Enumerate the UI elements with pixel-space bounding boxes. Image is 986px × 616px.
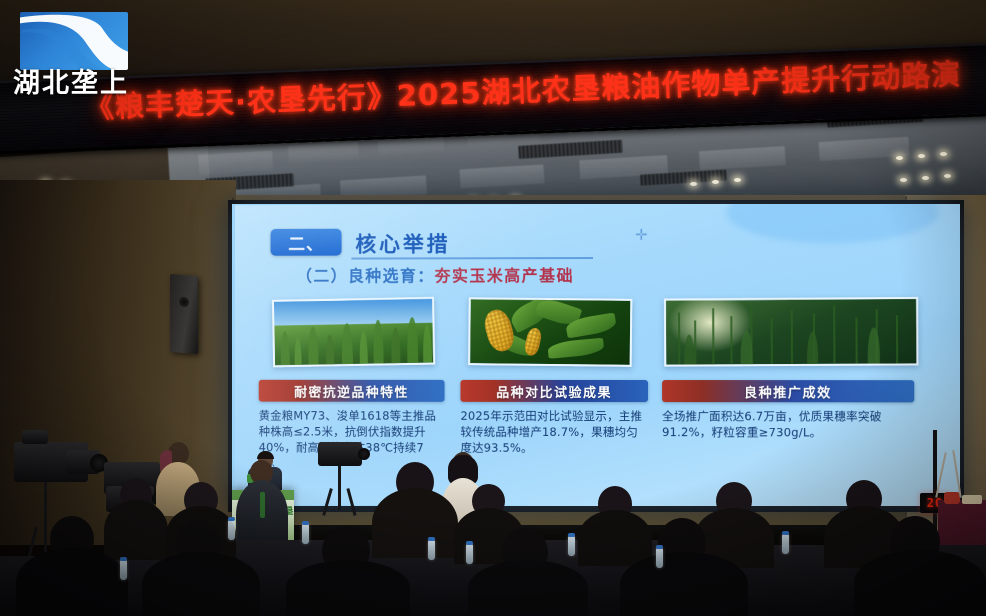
slide-subtitle-prefix: （二）良种选育： bbox=[296, 266, 434, 285]
video-camera-icon-4 bbox=[318, 442, 374, 512]
slide-subtitle: （二）良种选育：夯实玉米高产基础 bbox=[296, 262, 574, 286]
channel-logo-mark bbox=[20, 12, 128, 70]
slide-section-tag-label: 二、 bbox=[288, 230, 324, 255]
loudspeaker-icon bbox=[170, 274, 198, 354]
sparkle-icon: ✛ bbox=[635, 226, 648, 244]
caption-card-1-title: 耐密抗逆品种特性 bbox=[294, 381, 409, 400]
caption-card-3-body: 全场推广面积达6.7万亩，优质果穗率突破91.2%，籽粒容重≥730g/L。 bbox=[662, 408, 914, 441]
channel-logo-text: 湖北垄上 bbox=[12, 68, 130, 100]
caption-card-1-bar: 耐密抗逆品种特性 bbox=[259, 380, 445, 402]
slide-section-tag: 二、 bbox=[271, 229, 342, 256]
table-item bbox=[944, 492, 960, 504]
slide-title-rule bbox=[351, 257, 593, 260]
broadcast-frame: 《粮丰楚天·农垦先行》2025湖北农垦粮油作物单产提升行动路演 湖北垄上 ✛ 二… bbox=[0, 0, 986, 616]
caption-card-2-bar: 品种对比试验成果 bbox=[460, 380, 648, 402]
slide-decor-blob bbox=[726, 204, 938, 244]
slide-subtitle-highlight: 夯实玉米高产基础 bbox=[435, 266, 574, 285]
river-swoosh-icon bbox=[20, 14, 128, 70]
caption-card-2-body: 2025年示范田对比试验显示，主推较传统品种增产18.7%，果穗均匀度达93.5… bbox=[460, 408, 648, 456]
dense-corn-field-photo bbox=[664, 297, 919, 367]
corn-cob-closeup-photo bbox=[468, 297, 632, 367]
table-paper bbox=[962, 495, 982, 504]
slide-title: 核心举措 bbox=[355, 228, 450, 258]
caption-card-3-bar: 良种推广成效 bbox=[662, 380, 914, 402]
caption-card-3-title: 良种推广成效 bbox=[744, 382, 832, 401]
corn-field-blue-sky-photo bbox=[272, 297, 435, 368]
caption-card-3: 良种推广成效 全场推广面积达6.7万亩，优质果穗率突破91.2%，籽粒容重≥73… bbox=[662, 380, 914, 441]
caption-card-2: 品种对比试验成果 2025年示范田对比试验显示，主推较传统品种增产18.7%，果… bbox=[460, 380, 648, 456]
caption-card-2-title: 品种对比试验成果 bbox=[496, 381, 612, 400]
channel-logo: 湖北垄上 bbox=[12, 12, 130, 100]
